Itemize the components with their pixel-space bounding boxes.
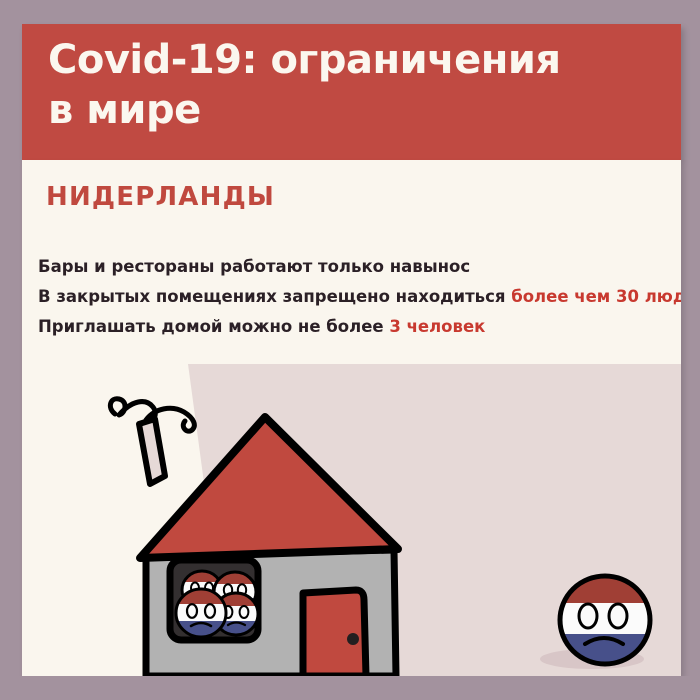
bottom-border-strip	[0, 676, 700, 700]
illustration-panel	[22, 364, 681, 676]
window-countryball-group	[174, 569, 262, 641]
door-knob	[347, 633, 359, 645]
content-card: НИДЕРЛАНДЫ Бары и рестораны работают тол…	[22, 160, 681, 676]
countryball-eye-right	[609, 604, 627, 628]
rule-text: В закрытых помещениях запрещено находить…	[38, 287, 511, 306]
rule-item: Бары и рестораны работают только навынос	[38, 252, 668, 282]
house-door	[303, 590, 366, 676]
rule-item: Приглашать домой можно не более 3 челове…	[38, 312, 668, 342]
rules-list: Бары и рестораны работают только навынос…	[38, 252, 668, 342]
infographic-poster: Covid-19: ограничения в мире НИДЕРЛАНДЫ …	[0, 0, 700, 700]
chimney	[139, 419, 165, 484]
country-heading: НИДЕРЛАНДЫ	[46, 182, 275, 212]
rule-highlight: 3 человек	[389, 317, 485, 336]
header-band: Covid-19: ограничения в мире	[22, 24, 681, 160]
rule-text: Бары и рестораны работают только навынос	[38, 257, 470, 276]
rule-highlight: более чем 30 людям	[511, 287, 681, 306]
rule-text: Приглашать домой можно не более	[38, 317, 389, 336]
page-title: Covid-19: ограничения в мире	[48, 35, 658, 135]
countryball-eye-left	[579, 604, 597, 628]
rule-item: В закрытых помещениях запрещено находить…	[38, 282, 668, 312]
